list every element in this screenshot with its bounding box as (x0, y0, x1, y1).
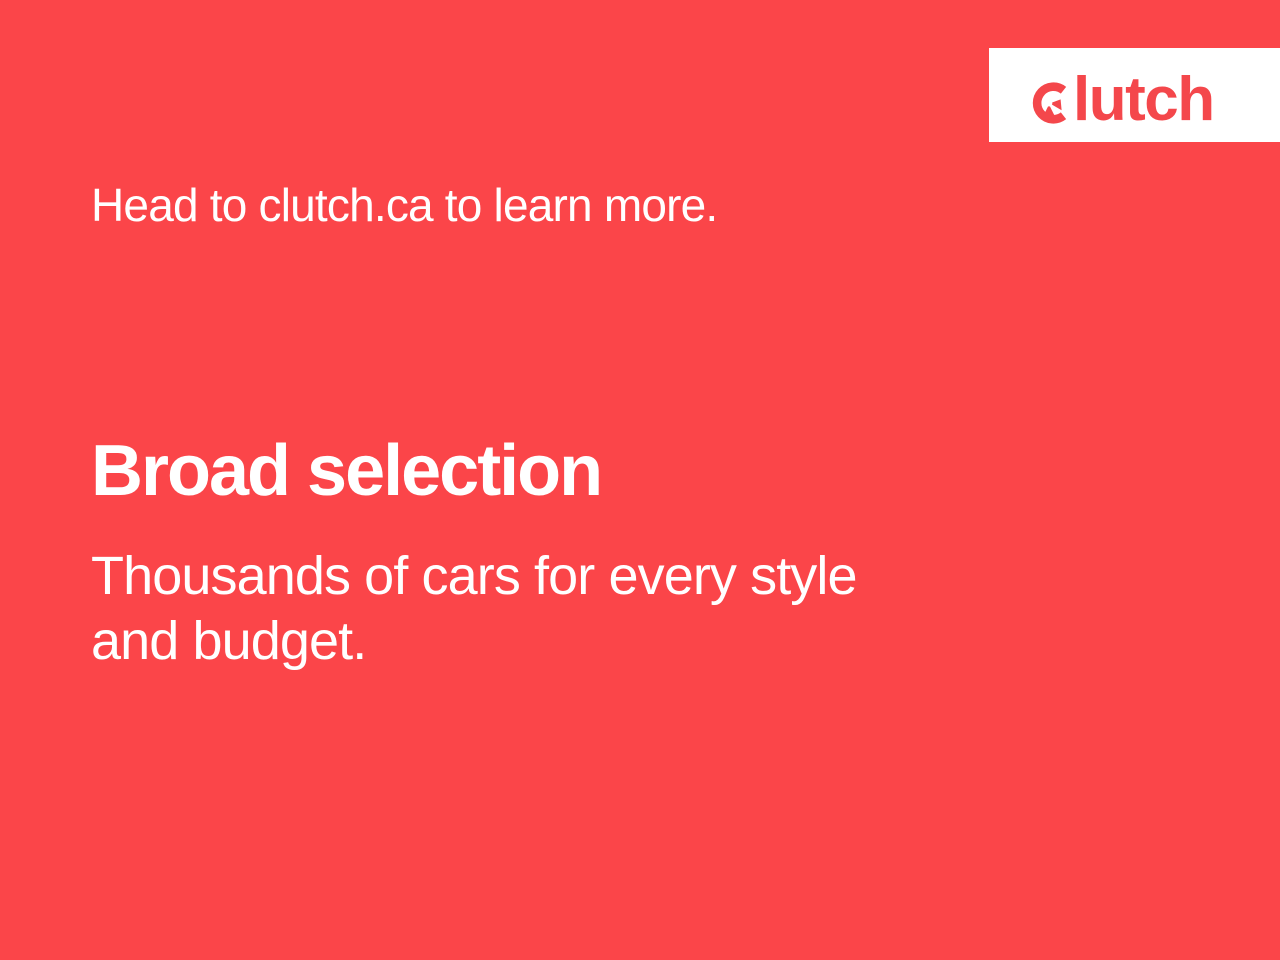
clutch-wordmark: lutch (1073, 75, 1214, 126)
clutch-steering-wheel-c-icon (1027, 81, 1071, 125)
subhead-text: Thousands of cars for every style and bu… (91, 544, 1051, 674)
clutch-logo-lockup: lutch (1027, 64, 1214, 126)
subhead-line-2: and budget. (91, 609, 1051, 674)
subhead-line-1: Thousands of cars for every style (91, 544, 1051, 609)
eyebrow-text: Head to clutch.ca to learn more. (91, 178, 717, 233)
brand-logo-plate: lutch (989, 48, 1280, 142)
promo-slide: lutch Head to clutch.ca to learn more. B… (0, 0, 1280, 960)
page-title: Broad selection (91, 434, 601, 510)
